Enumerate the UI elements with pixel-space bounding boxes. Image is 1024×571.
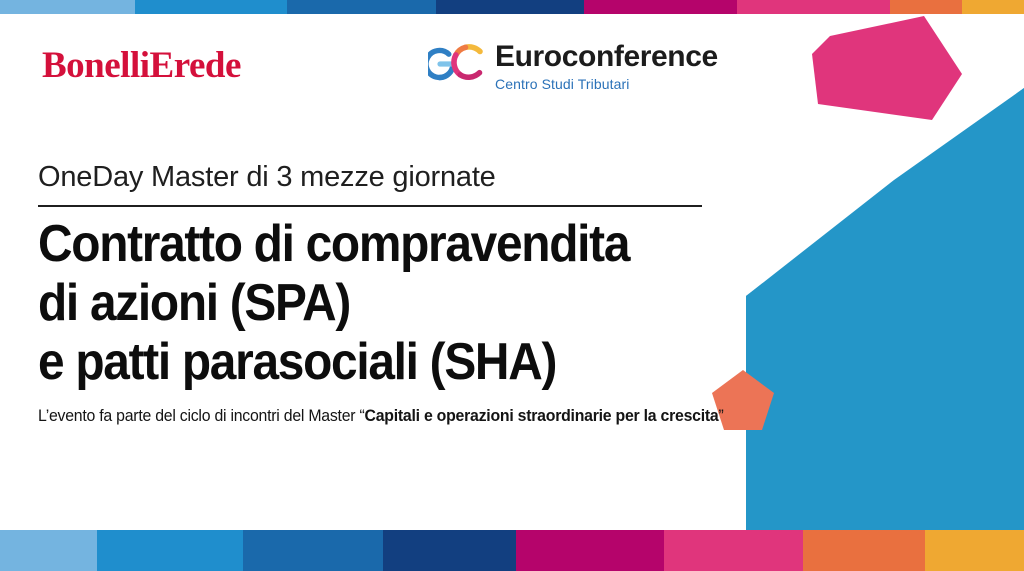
color-segment-medium-blue <box>287 0 436 14</box>
color-segment-blue <box>135 0 287 14</box>
color-segment-magenta <box>584 0 737 14</box>
color-segment-light-blue <box>0 530 97 571</box>
horizontal-divider <box>38 205 702 207</box>
title-line-2: di azioni (SPA) <box>38 274 682 333</box>
color-segment-dark-blue <box>436 0 584 14</box>
poster-content: OneDay Master di 3 mezze giornate Contra… <box>38 160 738 426</box>
color-segment-magenta <box>516 530 664 571</box>
title-line-1: Contratto di compravendita <box>38 215 682 274</box>
color-segment-pink <box>737 0 890 14</box>
color-segment-yellow <box>962 0 1024 14</box>
footnote-master-name: Capitali e operazioni straordinarie per … <box>365 407 719 425</box>
blue-polygon-decoration <box>688 88 1024 540</box>
bonelli-erede-logo: BonelliErede <box>42 44 241 87</box>
top-brand-color-bar <box>0 0 1024 14</box>
footnote-prefix: L’evento fa parte del ciclo di incontri … <box>38 407 365 425</box>
poster-title: Contratto di compravendita di azioni (SP… <box>38 215 682 393</box>
color-segment-medium-blue <box>243 530 383 571</box>
euroconference-wordmark: Euroconference Centro Studi Tributari <box>495 38 718 92</box>
footnote-suffix: ” <box>718 407 723 425</box>
event-format-eyebrow: OneDay Master di 3 mezze giornate <box>38 160 738 195</box>
event-poster: BonelliErede Euroconference Centro Studi <box>0 0 1024 571</box>
series-footnote: L’evento fa parte del ciclo di incontri … <box>38 407 710 426</box>
euroconference-logo: Euroconference Centro Studi Tributari <box>428 38 718 92</box>
bottom-brand-color-bar <box>0 530 1024 571</box>
euroconference-tagline: Centro Studi Tributari <box>495 76 718 92</box>
color-segment-blue <box>97 530 243 571</box>
color-segment-light-blue <box>0 0 135 14</box>
color-segment-dark-blue <box>383 530 516 571</box>
color-segment-pink <box>664 530 803 571</box>
title-line-3: e patti parasociali (SHA) <box>38 333 682 392</box>
logo-row: BonelliErede Euroconference Centro Studi <box>0 38 1024 100</box>
color-segment-orange <box>803 530 925 571</box>
euroconference-ec-monogram-icon <box>428 38 486 90</box>
euroconference-name: Euroconference <box>495 42 718 72</box>
color-segment-orange <box>890 0 962 14</box>
color-segment-yellow <box>925 530 1024 571</box>
